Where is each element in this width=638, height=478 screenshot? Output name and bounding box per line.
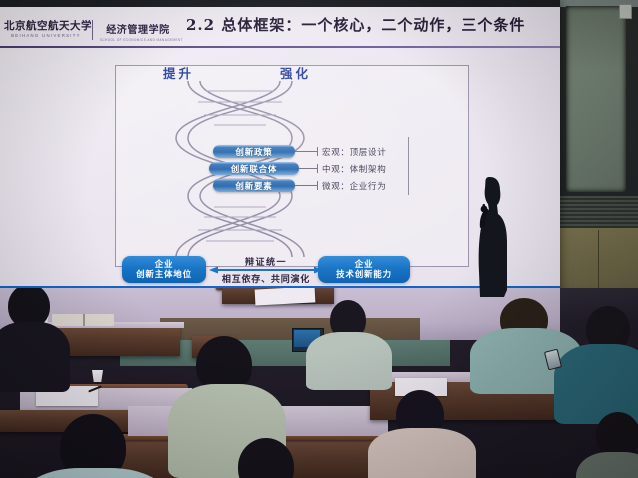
conclusion-left-line1: 企业 [155,260,174,270]
title-underline-rule [0,46,560,48]
person-6-body [554,344,638,424]
school-name-cn: 经济管理学院 [98,21,178,36]
wall-sensor-icon [619,4,632,19]
leader-line-1 [295,151,317,152]
side-note-meso: 中观：体制架构 [322,163,386,175]
leader-cap-3 [317,181,318,190]
audience-area [0,288,638,478]
conclusion-right-line1: 企业 [355,260,374,270]
screenshot-root: 北京航空航天大学 BEIHANG UNIVERSITY 经济管理学院 SCHOO… [0,0,638,478]
wall-green-panel [566,6,626,192]
conclusion-right-line2: 技术创新能力 [336,270,392,280]
person-1-body [0,322,70,392]
university-name-en: BEIHANG UNIVERSITY [4,33,88,38]
helix-bar-innovation-policy: 创新政策 [213,145,295,158]
university-name-cn: 北京航空航天大学 [4,21,88,32]
leader-line-3 [295,185,317,186]
microphone-icon [483,204,486,211]
conclusion-box-left: 企业 创新主体地位 [122,256,206,283]
slide-title: 2.2 总体框架：一个核心，二个动作，三个条件 [186,14,525,35]
school-logo: 经济管理学院 SCHOOL OF ECONOMICS AND MANAGEMEN… [98,21,178,42]
side-note-micro: 微观：企业行为 [322,180,386,192]
screen-top-frame [0,0,560,7]
person-3-body [306,332,392,390]
helix-bar-innovation-consortium: 创新联合体 [209,162,299,175]
university-logo: 北京航空航天大学 BEIHANG UNIVERSITY [4,21,88,38]
leader-cap-2 [317,164,318,173]
side-note-macro: 宏观：顶层设计 [322,146,386,158]
conclusion-left-line2: 创新主体地位 [136,270,192,280]
conclusion-box-right: 企业 技术创新能力 [318,256,410,283]
presenter-silhouette [470,172,510,297]
paper-cup-2 [92,370,103,382]
helix-bar-innovation-elements: 创新要素 [213,179,295,192]
conclusion-middle-bottom: 相互依存、共同演化 [205,272,327,285]
notebook-spine [83,314,85,326]
wall-vent-louver [560,196,638,228]
person-4-body [368,428,476,478]
side-note-rule [408,137,409,195]
leader-cap-1 [317,147,318,156]
school-name-en: SCHOOL OF ECONOMICS AND MANAGEMENT [100,38,176,42]
leader-line-2 [299,168,317,169]
logo-divider [92,20,93,40]
